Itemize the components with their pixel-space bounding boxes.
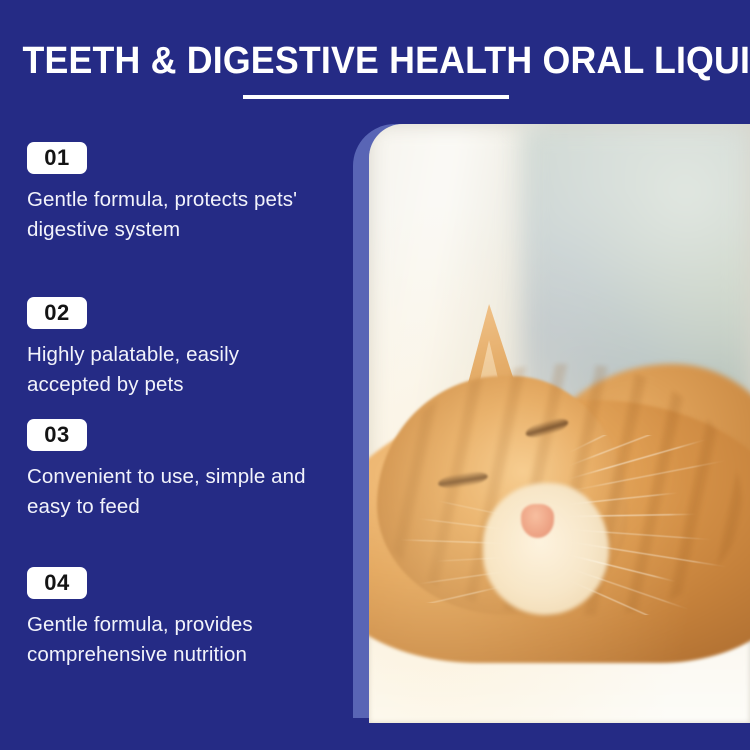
list-item: 03 Convenient to use, simple and easy to… — [27, 419, 327, 522]
whisker-strand — [436, 500, 506, 516]
feature-text: Highly palatable, easily accepted by pet… — [27, 340, 327, 400]
page-title: TEETH & DIGESTIVE HEALTH ORAL LIQUID — [23, 40, 728, 82]
cat-whiskers-right — [567, 435, 750, 615]
whisker-strand — [567, 529, 713, 541]
list-item: 04 Gentle formula, provides comprehensiv… — [27, 567, 327, 670]
whisker-strand — [418, 571, 507, 585]
list-item: 02 Highly palatable, easily accepted by … — [27, 297, 327, 400]
cat-photo-illustration — [369, 124, 750, 723]
status-badge: 02 — [27, 297, 87, 329]
status-badge: 01 — [27, 142, 87, 174]
whisker-strand — [417, 518, 506, 530]
feature-list: 01 Gentle formula, protects pets' digest… — [0, 130, 340, 730]
whisker-strand — [567, 541, 728, 568]
poster-header: TEETH & DIGESTIVE HEALTH ORAL LIQUID — [0, 0, 750, 120]
cat-photo — [369, 124, 750, 723]
product-feature-poster: TEETH & DIGESTIVE HEALTH ORAL LIQUID 01 … — [0, 0, 750, 750]
whisker-strand — [401, 585, 506, 603]
feature-text: Convenient to use, simple and easy to fe… — [27, 462, 327, 522]
feature-text: Gentle formula, protects pets' digestive… — [27, 185, 327, 245]
whisker-strand — [435, 557, 506, 562]
whisker-strand — [567, 438, 708, 480]
title-underline-rule — [243, 95, 509, 99]
whisker-strand — [567, 579, 701, 615]
whisker-strand — [567, 554, 677, 583]
list-item: 01 Gentle formula, protects pets' digest… — [27, 142, 327, 245]
feature-text: Gentle formula, provides comprehensive n… — [27, 610, 327, 670]
whisker-strand — [567, 514, 697, 518]
cat-whiskers-left — [377, 495, 507, 603]
status-badge: 04 — [27, 567, 87, 599]
whisker-strand — [567, 460, 727, 492]
whisker-strand — [567, 492, 680, 505]
status-badge: 03 — [27, 419, 87, 451]
cat-nose — [521, 504, 553, 538]
whisker-strand — [399, 539, 506, 544]
